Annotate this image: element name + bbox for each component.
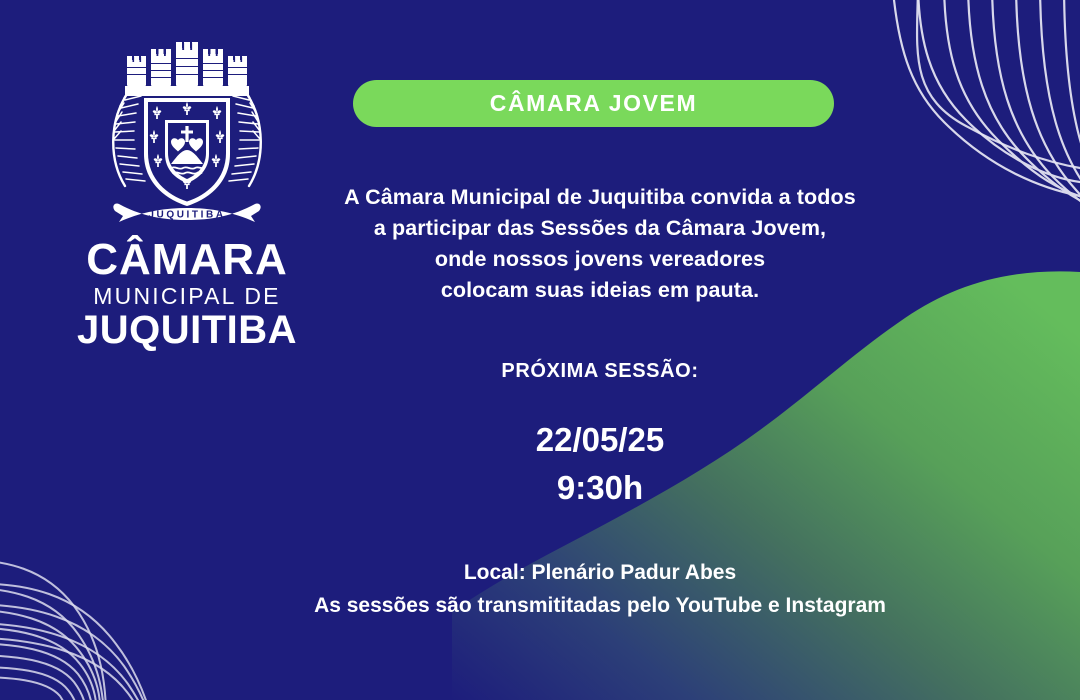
footer-details: Local: Plenário Padur Abes As sessões sã… [250,556,950,622]
invitation-line-2: a participar das Sessões da Câmara Jovem… [300,213,900,244]
session-time: 9:30h [300,464,900,512]
wordmark-juquitiba: JUQUITIBA [72,310,302,350]
invitation-line-3: onde nossos jovens vereadores [300,244,900,275]
wordmark-camara: CÂMARA [72,238,302,282]
camara-jovem-badge-label: CÂMARA JOVEM [490,90,697,117]
camara-jovem-badge: CÂMARA JOVEM [353,80,834,127]
wordmark-municipal-de: MUNICIPAL DE [72,285,302,308]
juquitiba-coat-of-arms-icon: JUQUITIBA [97,36,277,232]
invitation-line-1: A Câmara Municipal de Juquitiba convida … [300,182,900,213]
poster-canvas: JUQUITIBA CÂMARA MUNICIPAL DE JUQUITIBA … [0,0,1080,700]
session-datetime: 22/05/25 9:30h [300,416,900,512]
crest-ribbon-text: JUQUITIBA [148,210,225,221]
session-date: 22/05/25 [300,416,900,464]
logo-wordmark: CÂMARA MUNICIPAL DE JUQUITIBA [72,238,302,350]
logo-block: JUQUITIBA CÂMARA MUNICIPAL DE JUQUITIBA [72,36,302,350]
session-location: Local: Plenário Padur Abes [250,556,950,589]
next-session-label: PRÓXIMA SESSÃO: [300,360,900,383]
invitation-line-4: colocam suas ideias em pauta. [300,275,900,306]
broadcast-note: As sessões são transmititadas pelo YouTu… [250,589,950,622]
invitation-paragraph: A Câmara Municipal de Juquitiba convida … [300,182,900,306]
